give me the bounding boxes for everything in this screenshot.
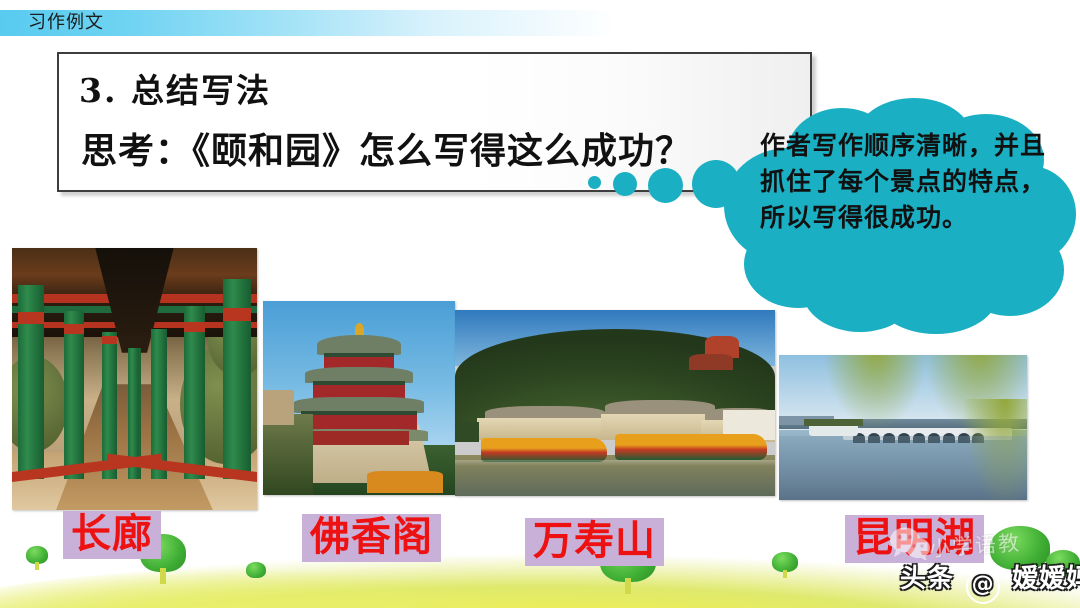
toutiao-watermark-prefix: 头条 xyxy=(900,564,954,594)
label-wanshoushan: 万寿山 xyxy=(525,518,664,566)
photo-changlang xyxy=(12,248,257,510)
toutiao-at-icon: @ xyxy=(966,570,1000,604)
photo-foxiangge xyxy=(263,301,455,495)
speech-bubble-text: 作者写作顺序清晰，并且抓住了每个景点的特点，所以写得很成功。 xyxy=(760,128,1060,236)
speech-tail-dot-3 xyxy=(648,168,683,203)
header-banner xyxy=(0,10,700,36)
decorative-tree-icon xyxy=(246,562,266,580)
slide-canvas: 习作例文 3. 总结写法 思考：《颐和园》怎么写得这么成功？ 作者写作顺序清晰，… xyxy=(0,0,1080,608)
speech-tail-dot-2 xyxy=(613,172,637,196)
label-kunminghu: 昆明湖 xyxy=(845,515,984,563)
photo-wanshoushan xyxy=(455,310,775,496)
label-changlang: 长廊 xyxy=(63,511,161,559)
header-title: 习作例文 xyxy=(28,9,104,37)
decorative-tree-icon xyxy=(26,546,48,568)
question-line-1: 3. 总结写法 xyxy=(79,64,271,112)
question-line-2: 思考：《颐和园》怎么写得这么成功？ xyxy=(81,122,692,174)
speech-bubble: 作者写作顺序清晰，并且抓住了每个景点的特点，所以写得很成功。 xyxy=(724,98,1076,334)
photo-kunminghu xyxy=(779,355,1027,500)
toutiao-watermark: 头条 @ 嫒嫒妈 xyxy=(900,558,1080,604)
decorative-tree-icon xyxy=(772,552,798,578)
label-foxiangge: 佛香阁 xyxy=(302,514,441,562)
speech-tail-dot-1 xyxy=(588,176,601,189)
toutiao-watermark-handle: 嫒嫒妈 xyxy=(1012,564,1080,594)
